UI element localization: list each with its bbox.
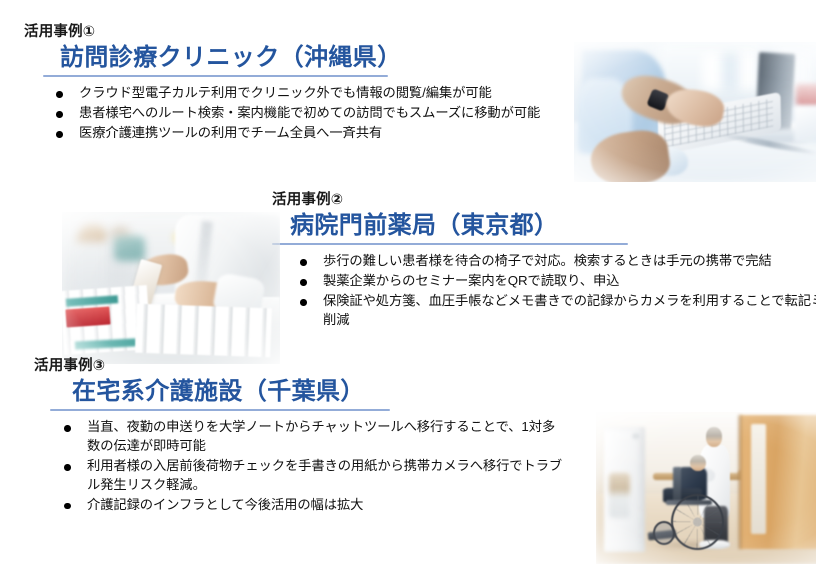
photo-layer-papers — [794, 106, 816, 142]
case-study-3: 活用事例③ 在宅系介護施設（千葉県） 当直、夜勤の申送りを大学ノートからチャット… — [34, 358, 554, 516]
photo-layer-cart — [609, 473, 630, 519]
slide-canvas: 活用事例① 訪問診療クリニック（沖縄県） クラウド型電子カルテ利用でクリニック外… — [0, 0, 816, 549]
bullet-text: 製薬企業からのセミナー案内をQRで読取り、申込 — [323, 273, 619, 288]
bullet-text: 保険証や処方箋、血圧手帳などメモ書きでの記録からカメラを利用することで転記ミス削… — [323, 293, 816, 327]
case-3-bullet-list: 当直、夜勤の申送りを大学ノートからチャットツールへ移行することで、1対多数の伝達… — [56, 418, 554, 514]
case-1-label: 活用事例① — [24, 24, 534, 41]
bullet-text: クラウド型電子カルテ利用でクリニック外でも情報の閲覧/編集が可能 — [79, 85, 492, 100]
bullet-dot-icon — [300, 299, 307, 306]
list-item: 当直、夜勤の申送りを大学ノートからチャットツールへ移行することで、1対多数の伝達… — [56, 418, 567, 456]
case-2-title: 病院門前薬局（東京都） — [290, 212, 816, 241]
list-item: 介護記録のインフラとして今後活用の幅は拡大 — [56, 496, 567, 515]
list-item: 医療介護連携ツールの利用でチーム全員へ一斉共有 — [48, 124, 549, 143]
photo-layer-red-object — [796, 84, 816, 106]
photo-layer-red-medicine-box — [66, 306, 111, 327]
photo-layer-patient-head — [690, 455, 705, 472]
photo-layer-caregiver-head — [706, 427, 723, 447]
bullet-text: 介護記録のインフラとして今後活用の幅は拡大 — [87, 497, 363, 512]
photo-frame — [596, 412, 816, 564]
case-1-underline — [43, 75, 388, 77]
list-item: 歩行の難しい患者様を待合の椅子で対応。検索するときは手元の携帯で完結 — [292, 252, 816, 271]
bullet-dot-icon — [300, 279, 307, 286]
list-item: クラウド型電子カルテ利用でクリニック外でも情報の閲覧/編集が可能 — [48, 84, 549, 103]
case-3-underline — [50, 409, 390, 411]
case-study-2: 活用事例② 病院門前薬局（東京都） 歩行の難しい患者様を待合の椅子で対応。検索す… — [272, 192, 816, 331]
list-item: 利用者様の入居前後荷物チェックを手書きの用紙から携帯カメラへ移行でトラブル発生リ… — [56, 457, 567, 495]
list-item: 保険証や処方箋、血圧手帳などメモ書きでの記録からカメラを利用することで転記ミス削… — [292, 292, 816, 330]
photo-layer-wheelchair-front-caster — [653, 521, 675, 545]
bullet-text: 患者様宅へのルート検索・案内機能で初めての訪問でもスムーズに移動が可能 — [79, 105, 540, 120]
case-2-bullet-list: 歩行の難しい患者様を待合の椅子で対応。検索するときは手元の携帯で完結 製薬企業か… — [292, 252, 816, 330]
case-2-photo-pharmacy — [62, 212, 280, 364]
bullet-text: 利用者様の入居前後荷物チェックを手書きの用紙から携帯カメラへ移行でトラブル発生リ… — [87, 458, 562, 492]
case-2-label: 活用事例② — [272, 192, 816, 209]
bullet-text: 医療介護連携ツールの利用でチーム全員へ一斉共有 — [79, 125, 382, 140]
photo-layer-boxes-right — [135, 304, 272, 357]
bullet-dot-icon — [300, 259, 307, 266]
case-3-photo-wheelchair-corridor — [596, 412, 816, 564]
photo-layer-background-person-1 — [75, 224, 110, 291]
photo-layer-teal-object — [114, 236, 145, 260]
bullet-text: 当直、夜勤の申送りを大学ノートからチャットツールへ移行することで、1対多数の伝達… — [87, 419, 555, 453]
case-1-title: 訪問診療クリニック（沖縄県） — [60, 44, 534, 73]
photo-layer-door-edge — [738, 415, 742, 549]
photo-layer-wheelchair-rear-wheel — [671, 494, 724, 550]
photo-layer-wheelchair-backrest — [673, 467, 681, 503]
bullet-dot-icon — [56, 111, 63, 118]
case-2-underline — [272, 243, 628, 245]
bullet-dot-icon — [64, 464, 71, 471]
photo-frame — [574, 42, 816, 182]
bullet-dot-icon — [56, 91, 63, 98]
list-item: 患者様宅へのルート検索・案内機能で初めての訪問でもスムーズに移動が可能 — [48, 104, 549, 123]
bullet-dot-icon — [64, 503, 71, 510]
case-3-title: 在宅系介護施設（千葉県） — [72, 378, 554, 407]
case-study-1: 活用事例① 訪問診療クリニック（沖縄県） クラウド型電子カルテ利用でクリニック外… — [24, 24, 534, 144]
case-1-bullet-list: クラウド型電子カルテ利用でクリニック外でも情報の閲覧/編集が可能 患者様宅へのル… — [48, 84, 534, 143]
bullet-text: 歩行の難しい患者様を待合の椅子で対応。検索するときは手元の携帯で完結 — [323, 253, 772, 268]
bullet-dot-icon — [56, 131, 63, 138]
photo-layer-door-glass-panel — [751, 424, 766, 533]
case-1-photo-clinician-typing — [574, 42, 816, 182]
bullet-dot-icon — [64, 425, 71, 432]
case-3-label: 活用事例③ — [34, 358, 554, 375]
list-item: 製薬企業からのセミナー案内をQRで読取り、申込 — [292, 272, 816, 291]
photo-frame — [62, 212, 280, 364]
